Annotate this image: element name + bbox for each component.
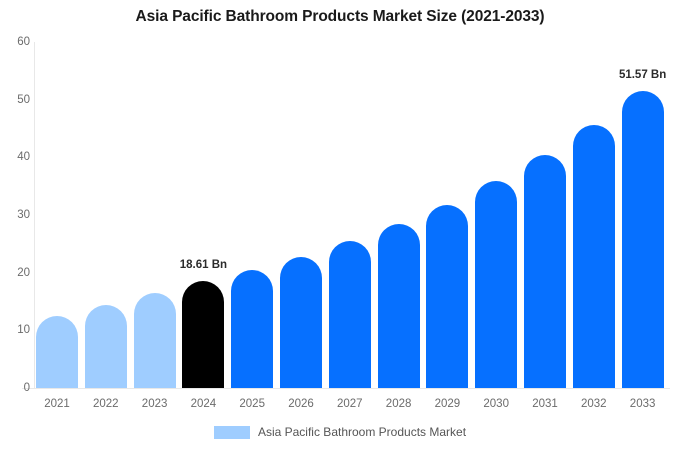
- bar-2027[interactable]: [329, 241, 371, 388]
- y-axis-tick-labels: 0102030405060: [0, 0, 30, 450]
- bar-group-2025[interactable]: [231, 42, 273, 388]
- y-axis-tick-50: 50: [4, 94, 30, 106]
- legend-swatch-asia-pacific-bathroom-products-market: [214, 426, 250, 439]
- y-axis-tick-0: 0: [4, 382, 30, 394]
- x-axis-line: [22, 388, 670, 389]
- bar-group-2021[interactable]: [36, 42, 78, 388]
- bar-chart: Asia Pacific Bathroom Products Market Si…: [0, 0, 680, 450]
- bar-2021[interactable]: [36, 316, 78, 388]
- bar-2023[interactable]: [134, 293, 176, 388]
- y-axis-tick-40: 40: [4, 151, 30, 163]
- bar-2026[interactable]: [280, 257, 322, 388]
- y-axis-tick-60: 60: [4, 36, 30, 48]
- bar-group-2022[interactable]: [85, 42, 127, 388]
- y-axis-tick-30: 30: [4, 209, 30, 221]
- bar-group-2031[interactable]: [524, 42, 566, 388]
- bar-2032[interactable]: [573, 125, 615, 388]
- x-axis-tick-2033: 2033: [613, 398, 673, 410]
- chart-title: Asia Pacific Bathroom Products Market Si…: [0, 8, 680, 26]
- bar-group-2033[interactable]: 51.57 Bn: [622, 42, 664, 388]
- bar-group-2026[interactable]: [280, 42, 322, 388]
- bar-group-2024[interactable]: 18.61 Bn: [182, 42, 224, 388]
- bar-group-2027[interactable]: [329, 42, 371, 388]
- bar-2029[interactable]: [426, 205, 468, 388]
- bar-group-2028[interactable]: [378, 42, 420, 388]
- plot-area: 18.61 Bn51.57 Bn: [34, 42, 670, 388]
- bar-2031[interactable]: [524, 155, 566, 388]
- bar-value-label-2024: 18.61 Bn: [180, 259, 227, 271]
- bar-2022[interactable]: [85, 305, 127, 388]
- bar-value-label-2033: 51.57 Bn: [619, 69, 666, 81]
- y-axis-tick-10: 10: [4, 324, 30, 336]
- bar-2024[interactable]: [182, 281, 224, 388]
- chart-legend: Asia Pacific Bathroom Products Market: [0, 425, 680, 439]
- bar-2028[interactable]: [378, 224, 420, 388]
- bar-2033[interactable]: [622, 91, 664, 388]
- bar-2030[interactable]: [475, 181, 517, 388]
- legend-label-asia-pacific-bathroom-products-market: Asia Pacific Bathroom Products Market: [258, 425, 466, 439]
- bar-group-2032[interactable]: [573, 42, 615, 388]
- bar-group-2029[interactable]: [426, 42, 468, 388]
- bar-2025[interactable]: [231, 270, 273, 388]
- y-axis-tick-20: 20: [4, 267, 30, 279]
- bar-group-2030[interactable]: [475, 42, 517, 388]
- bar-group-2023[interactable]: [134, 42, 176, 388]
